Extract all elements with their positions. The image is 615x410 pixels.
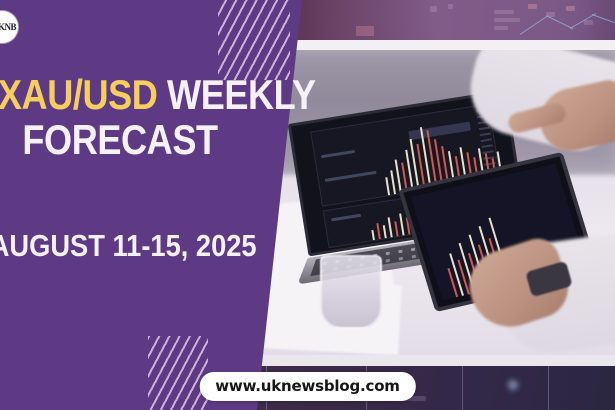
headline-forecast-label: FORECAST [0, 118, 242, 162]
forecast-banner: UKNB XAU/USD WEEKLY FORECAST AUGUST 11-1… [0, 0, 615, 410]
headline-block: XAU/USD WEEKLY FORECAST [0, 74, 262, 162]
website-url-pill[interactable]: www.uknewsblog.com [199, 372, 415, 401]
date-range-label: AUGUST 11-15, 2025 [0, 228, 220, 264]
water-glass [320, 255, 382, 329]
site-logo-label: UKNB [0, 22, 18, 32]
headline-line-1: XAU/USD WEEKLY [0, 74, 242, 116]
headline-weekly-label: WEEKLY [157, 71, 315, 118]
currency-pair-label: XAU/USD [0, 71, 157, 118]
